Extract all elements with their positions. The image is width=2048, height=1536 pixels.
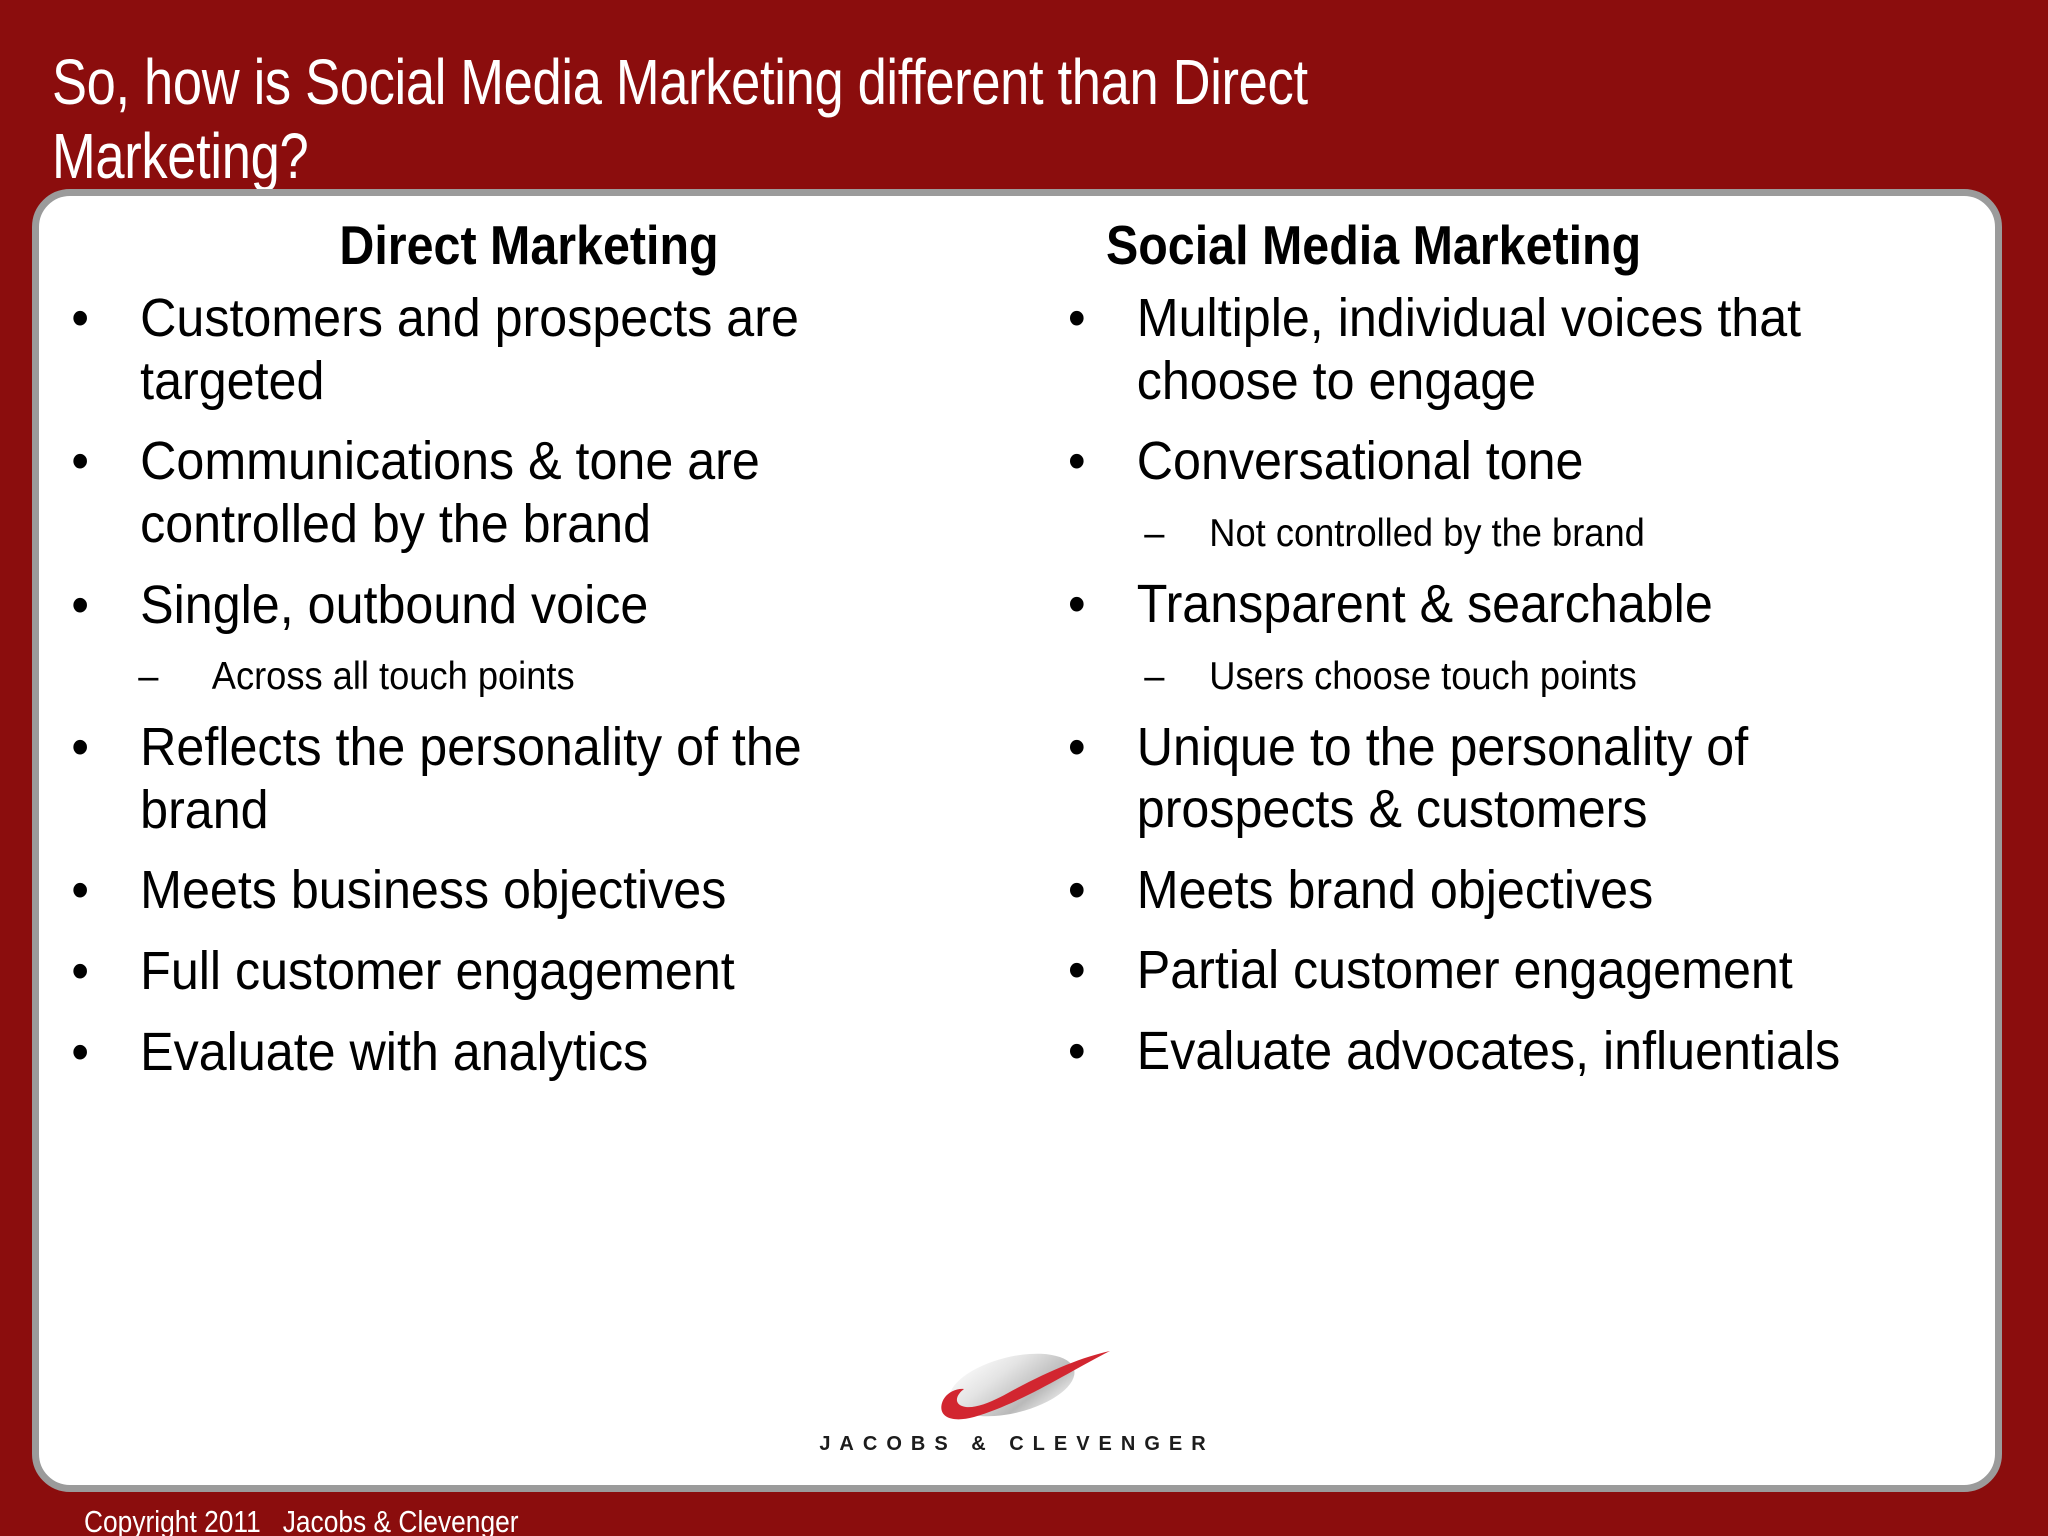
- bullet-item: •Single, outbound voice: [49, 574, 942, 637]
- bullet-item: •Evaluate with analytics: [49, 1021, 942, 1084]
- logo-wordmark: JACOBS & CLEVENGER: [39, 1433, 1995, 1456]
- logo-mark-icon: [912, 1345, 1122, 1429]
- bullet-dot-icon: •: [71, 574, 127, 637]
- column-social-media-marketing: Social Media Marketing •Multiple, indivi…: [1014, 196, 1989, 1101]
- bullet-text: Across all touch points: [212, 655, 575, 698]
- presentation-slide: So, how is Social Media Marketing differ…: [0, 0, 2048, 1536]
- company-logo: JACOBS & CLEVENGER: [39, 1345, 1995, 1473]
- bullet-item: •Reflects the personality of the brand: [49, 716, 942, 841]
- bullet-item: •Customers and prospects are targeted: [49, 287, 942, 412]
- bullet-dot-icon: •: [1068, 287, 1124, 350]
- bullet-item: •Full customer engagement: [49, 940, 942, 1003]
- bullet-item: –Users choose touch points: [1014, 654, 1921, 700]
- bullet-text: Unique to the personality of prospects &…: [1137, 717, 1748, 840]
- bullet-text: Single, outbound voice: [140, 575, 648, 635]
- bullet-item: •Partial customer engagement: [1014, 939, 1921, 1002]
- bullet-item: –Not controlled by the brand: [1014, 511, 1921, 557]
- bullet-dot-icon: •: [1068, 859, 1124, 922]
- bullet-dot-icon: •: [71, 716, 127, 779]
- column-heading-direct-marketing: Direct Marketing: [107, 213, 952, 277]
- bullet-item: –Across all touch points: [49, 654, 942, 700]
- column-direct-marketing: Direct Marketing •Customers and prospect…: [49, 196, 1009, 1101]
- bullet-item: •Communications & tone are controlled by…: [49, 430, 942, 555]
- footer-bar: Copyright 2011 Jacobs & Clevenger: [0, 1492, 2048, 1536]
- bullet-item: •Multiple, individual voices that choose…: [1014, 287, 1921, 412]
- bullet-item: •Unique to the personality of prospects …: [1014, 716, 1921, 841]
- content-panel: Direct Marketing •Customers and prospect…: [32, 189, 2002, 1492]
- bullet-item: •Transparent & searchable: [1014, 573, 1921, 636]
- bullet-text: Conversational tone: [1137, 431, 1584, 491]
- bullet-dot-icon: •: [71, 859, 127, 922]
- bullet-dot-icon: •: [71, 430, 127, 493]
- bullet-dot-icon: •: [1068, 430, 1124, 493]
- column-heading-social-media-marketing: Social Media Marketing: [1073, 213, 1931, 277]
- bullet-dot-icon: •: [71, 1021, 127, 1084]
- bullet-text: Communications & tone are controlled by …: [140, 431, 760, 554]
- bullet-dash-icon: –: [1144, 654, 1200, 701]
- bullet-dot-icon: •: [1068, 573, 1124, 636]
- bullet-item: •Evaluate advocates, influentials: [1014, 1020, 1921, 1083]
- bullet-text: Multiple, individual voices that choose …: [1137, 288, 1801, 411]
- page-title: So, how is Social Media Marketing differ…: [52, 45, 1577, 193]
- bullet-dot-icon: •: [71, 940, 127, 1003]
- bullet-dash-icon: –: [1144, 511, 1200, 558]
- copyright-text: Copyright 2011 Jacobs & Clevenger: [84, 1504, 519, 1536]
- bullet-dot-icon: •: [1068, 1020, 1124, 1083]
- bullet-dash-icon: –: [138, 654, 194, 701]
- bullet-text: Transparent & searchable: [1137, 574, 1713, 634]
- bullet-item: •Conversational tone: [1014, 430, 1921, 493]
- bullet-text: Evaluate advocates, influentials: [1137, 1021, 1841, 1081]
- bullet-text: Customers and prospects are targeted: [140, 288, 799, 411]
- bullet-text: Full customer engagement: [140, 941, 735, 1001]
- bullet-item: •Meets brand objectives: [1014, 859, 1921, 922]
- bullet-dot-icon: •: [1068, 716, 1124, 779]
- bullet-item: •Meets business objectives: [49, 859, 942, 922]
- bullet-dot-icon: •: [71, 287, 127, 350]
- bullet-text: Meets business objectives: [140, 860, 726, 920]
- bullet-list-direct-marketing: •Customers and prospects are targeted•Co…: [49, 287, 1009, 1083]
- bullet-text: Evaluate with analytics: [140, 1022, 648, 1082]
- bullet-text: Reflects the personality of the brand: [140, 717, 802, 840]
- bullet-list-social-media-marketing: •Multiple, individual voices that choose…: [1014, 287, 1989, 1083]
- bullet-text: Meets brand objectives: [1137, 860, 1653, 920]
- bullet-text: Not controlled by the brand: [1209, 512, 1645, 555]
- bullet-text: Users choose touch points: [1209, 655, 1636, 698]
- bullet-text: Partial customer engagement: [1137, 940, 1793, 1000]
- bullet-dot-icon: •: [1068, 939, 1124, 1002]
